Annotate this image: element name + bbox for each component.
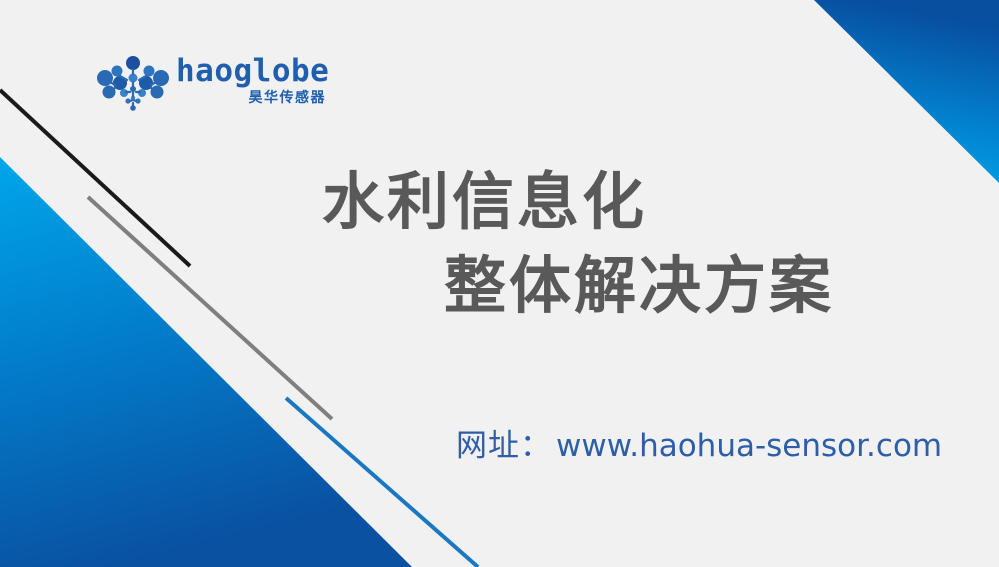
presentation-cover-slide: haoglobe 昊华传感器 水利信息化 整体解决方案 网址： www.haoh… <box>0 0 999 567</box>
page-title: 水利信息化 整体解决方案 <box>0 160 999 328</box>
title-line-primary: 水利信息化 <box>0 160 999 244</box>
website-row: 网址： www.haohua-sensor.com <box>456 420 942 465</box>
website-label: 网址： <box>456 420 552 465</box>
brand-logo: haoglobe 昊华传感器 <box>96 56 326 118</box>
haoglobe-dot-cluster-logo-icon <box>96 56 170 114</box>
brand-wordmark-en: haoglobe <box>176 54 329 88</box>
website-url[interactable]: www.haohua-sensor.com <box>556 428 942 464</box>
brand-wordmark-cn: 昊华传感器 <box>249 90 327 106</box>
brand-wordmark: haoglobe 昊华传感器 <box>176 54 326 116</box>
title-line-secondary: 整体解决方案 <box>0 244 999 328</box>
